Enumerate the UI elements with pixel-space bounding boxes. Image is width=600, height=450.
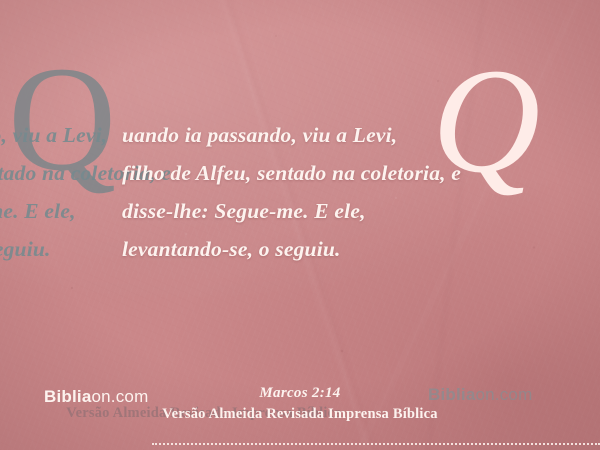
site-logo-ghost-light: on.com	[476, 385, 533, 404]
paper-crease-texture	[0, 0, 600, 450]
dropcap-letter: Q	[432, 46, 540, 196]
paper-gradient-texture	[0, 0, 600, 450]
verse-line-1: uando ia passando, viu a Levi,	[122, 116, 600, 154]
site-logo: Bibliaon.com	[44, 387, 148, 407]
bible-version-ghost: Versão Almeida Revisada Imprensa Bíblica	[0, 405, 600, 422]
verse-line-2: filho de Alfeu, sentado na coletoria, e	[122, 154, 600, 192]
site-logo-ghost-bold: Biblia	[428, 385, 476, 404]
verse-ghost-line-1: uando ia passando, viu a Levi,	[0, 116, 392, 154]
verse-ghost-line-2: filho de Alfeu, sentado na coletoria, e	[0, 154, 392, 192]
site-logo-bold: Biblia	[44, 387, 92, 406]
paper-fiber-texture	[0, 0, 600, 450]
verse-text-ghost: uando ia passando, viu a Levi, filho de …	[0, 116, 392, 268]
dropcap-ghost-letter: Q	[8, 44, 116, 194]
site-logo-light: on.com	[92, 387, 149, 406]
dashed-divider	[152, 443, 600, 445]
verse-line-4: levantando-se, o seguiu.	[122, 230, 600, 268]
verse-ghost-line-4: levantando-se, o seguiu.	[0, 230, 392, 268]
verse-image-card: Q uando ia passando, viu a Levi, filho d…	[0, 0, 600, 450]
verse-ghost-line-3: disse-lhe: Segue-me. E ele,	[0, 192, 392, 230]
bible-version: Versão Almeida Revisada Imprensa Bíblica	[0, 406, 600, 423]
paper-vignette	[0, 0, 600, 450]
verse-line-3: disse-lhe: Segue-me. E ele,	[122, 192, 600, 230]
verse-reference: Marcos 2:14	[0, 385, 600, 402]
site-logo-ghost: Bibliaon.com	[428, 385, 532, 405]
verse-text: uando ia passando, viu a Levi, filho de …	[122, 116, 600, 268]
paper-speckle-texture	[0, 0, 600, 450]
